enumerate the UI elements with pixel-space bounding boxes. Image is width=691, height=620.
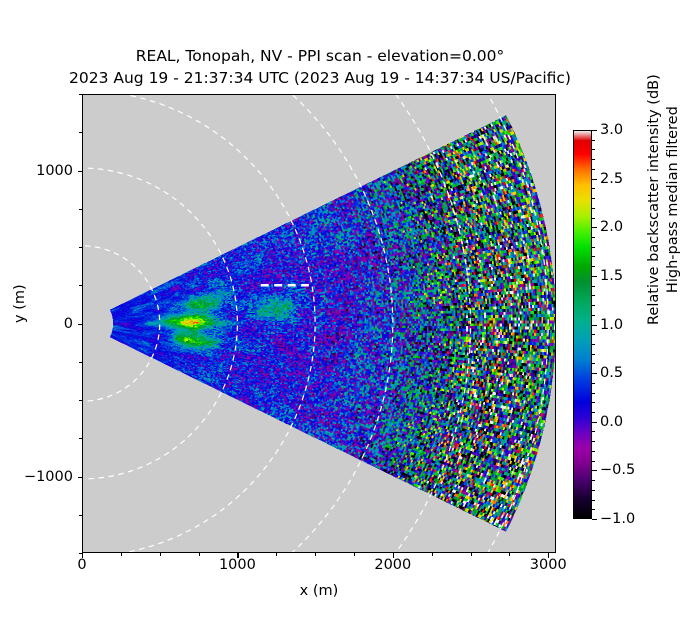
colorbar-tick-minor [592,354,595,355]
y-tick-minor [79,132,82,133]
colorbar-tick-label: 2.5 [600,171,623,187]
colorbar-tick-major [592,470,597,471]
figure-canvas: REAL, Tonopah, NV - PPI scan - elevation… [0,0,691,620]
colorbar-tick-minor [592,509,595,510]
y-tick-minor [79,209,82,210]
y-tick-major [78,171,83,172]
colorbar-tick-major [592,179,597,180]
x-tick-minor [471,553,472,556]
colorbar-tick-label: 0.5 [600,365,623,381]
y-tick-minor [79,438,82,439]
colorbar-tick-label: 1.0 [600,317,623,333]
colorbar-tick-minor [592,344,595,345]
colorbar-tick-minor [592,490,595,491]
y-tick-minor [79,362,82,363]
colorbar-tick-minor [592,334,595,335]
colorbar-tick-label: 3.0 [600,122,623,138]
ppi-scan-image [82,94,556,553]
colorbar-tick-minor [592,188,595,189]
colorbar-tick-major [592,325,597,326]
colorbar-tick-major [592,227,597,228]
colorbar-tick-minor [592,451,595,452]
x-tick-minor [160,553,161,556]
colorbar-tick-minor [592,412,595,413]
colorbar-tick-minor [592,431,595,432]
x-tick-label: 2000 [374,557,411,573]
x-tick-label: 0 [77,557,86,573]
colorbar-tick-minor [592,315,595,316]
x-tick-minor [315,553,316,556]
colorbar-tick-minor [592,461,595,462]
colorbar-tick-minor [592,149,595,150]
colorbar-tick-minor [592,159,595,160]
title-line-2: 2023 Aug 19 - 21:37:34 UTC (2023 Aug 19 … [0,67,640,89]
x-axis-label: x (m) [82,583,556,599]
colorbar-tick-major [592,519,597,520]
colorbar[interactable]: −1.0−0.50.00.51.01.52.02.53.0 [573,130,592,519]
colorbar-gradient [573,130,592,519]
title-line-1: REAL, Tonopah, NV - PPI scan - elevation… [0,45,640,67]
colorbar-tick-minor [592,198,595,199]
x-tick-minor [509,553,510,556]
y-tick-minor [79,515,82,516]
colorbar-tick-minor [592,247,595,248]
colorbar-tick-minor [592,140,595,141]
x-tick-minor [276,553,277,556]
colorbar-tick-minor [592,393,595,394]
ppi-plot-axes[interactable]: 0100020003000 10000−1000 [82,94,556,553]
y-tick-minor [79,94,82,95]
colorbar-tick-label: 1.5 [600,268,623,284]
colorbar-tick-major [592,373,597,374]
y-tick-label: 1000 [36,163,73,179]
x-tick-label: 1000 [219,557,256,573]
colorbar-tick-minor [592,500,595,501]
colorbar-tick-minor [592,363,595,364]
colorbar-tick-minor [592,441,595,442]
colorbar-tick-minor [592,402,595,403]
colorbar-tick-minor [592,383,595,384]
y-tick-minor [79,553,82,554]
x-tick-minor [354,553,355,556]
figure-title: REAL, Tonopah, NV - PPI scan - elevation… [0,45,640,89]
colorbar-tick-minor [592,305,595,306]
y-tick-major [78,324,83,325]
colorbar-tick-minor [592,286,595,287]
colorbar-tick-minor [592,266,595,267]
colorbar-label: Relative backscatter intensity (dB) High… [645,74,683,325]
colorbar-tick-minor [592,237,595,238]
y-tick-major [78,477,83,478]
x-tick-label: 3000 [530,557,567,573]
x-tick-minor [121,553,122,556]
colorbar-tick-label: −1.0 [600,511,635,527]
colorbar-tick-minor [592,256,595,257]
colorbar-tick-minor [592,295,595,296]
colorbar-tick-label: −0.5 [600,462,635,478]
x-tick-minor [432,553,433,556]
colorbar-tick-label: 0.0 [600,414,623,430]
colorbar-tick-minor [592,480,595,481]
colorbar-tick-minor [592,218,595,219]
y-tick-minor [79,285,82,286]
x-tick-minor [199,553,200,556]
colorbar-tick-major [592,422,597,423]
y-tick-minor [79,400,82,401]
y-tick-label: −1000 [24,469,73,485]
y-axis-label: y (m) [12,284,28,323]
colorbar-tick-major [592,276,597,277]
y-tick-label: 0 [64,316,73,332]
colorbar-tick-label: 2.0 [600,219,623,235]
colorbar-label-line-2: High-pass median filtered [664,74,683,325]
colorbar-tick-minor [592,169,595,170]
y-tick-minor [79,247,82,248]
colorbar-tick-minor [592,208,595,209]
colorbar-tick-major [592,130,597,131]
colorbar-label-line-1: Relative backscatter intensity (dB) [645,74,664,325]
